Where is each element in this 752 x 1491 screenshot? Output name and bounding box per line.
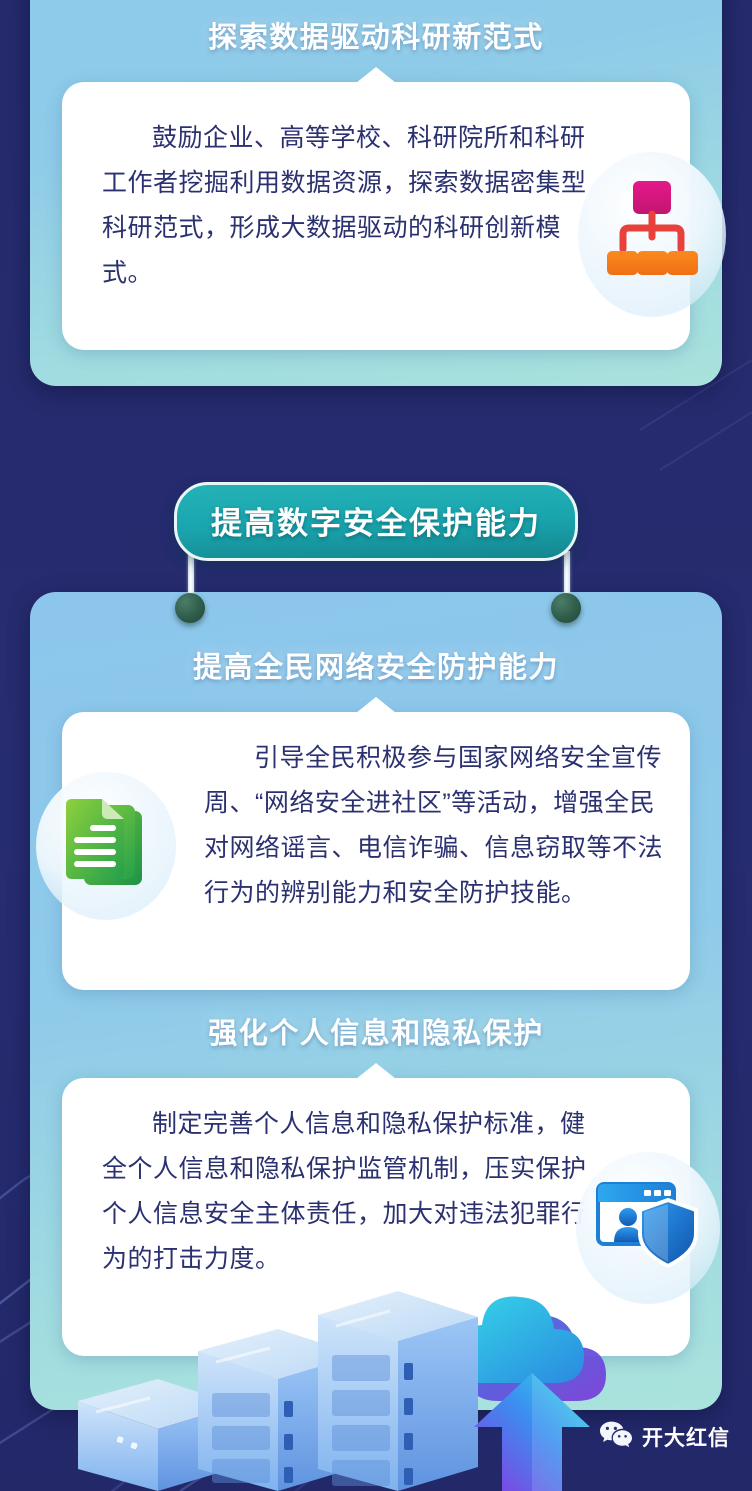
section-title-public-network-security: 提高全民网络安全防护能力 — [0, 644, 752, 686]
section-title-personal-info-privacy: 强化个人信息和隐私保护 — [0, 1010, 752, 1052]
hierarchy-chart-icon — [578, 152, 726, 317]
hanging-pin-right — [562, 551, 572, 623]
wechat-credit-label: 开大红信 — [642, 1422, 730, 1452]
body-text-data-driven-research: 鼓励企业、高等学校、科研院所和科研工作者挖掘利用数据资源，探索数据密集型科研范式… — [102, 116, 602, 296]
infographic-page: 探索数据驱动科研新范式 鼓励企业、高等学校、科研院所和科研工作者挖 — [0, 0, 752, 1491]
wechat-credit: 开大红信 — [599, 1420, 730, 1453]
body-text-personal-info-privacy: 制定完善个人信息和隐私保护标准，健全个人信息和隐私保护监管机制，压实保护个人信息… — [102, 1102, 597, 1282]
body-text-public-network-security: 引导全民积极参与国家网络安全宣传周、“网络安全进社区”等活动，增强全民对网络谣言… — [204, 736, 664, 916]
wechat-icon — [599, 1420, 633, 1453]
section-title-data-driven-research: 探索数据驱动科研新范式 — [0, 14, 752, 56]
privacy-shield-icon — [576, 1152, 720, 1304]
hanging-pin-left — [186, 551, 196, 623]
group-badge-wrap: 提高数字安全保护能力 — [0, 482, 752, 561]
group-badge-digital-security[interactable]: 提高数字安全保护能力 — [174, 482, 578, 561]
documents-icon — [36, 772, 176, 920]
